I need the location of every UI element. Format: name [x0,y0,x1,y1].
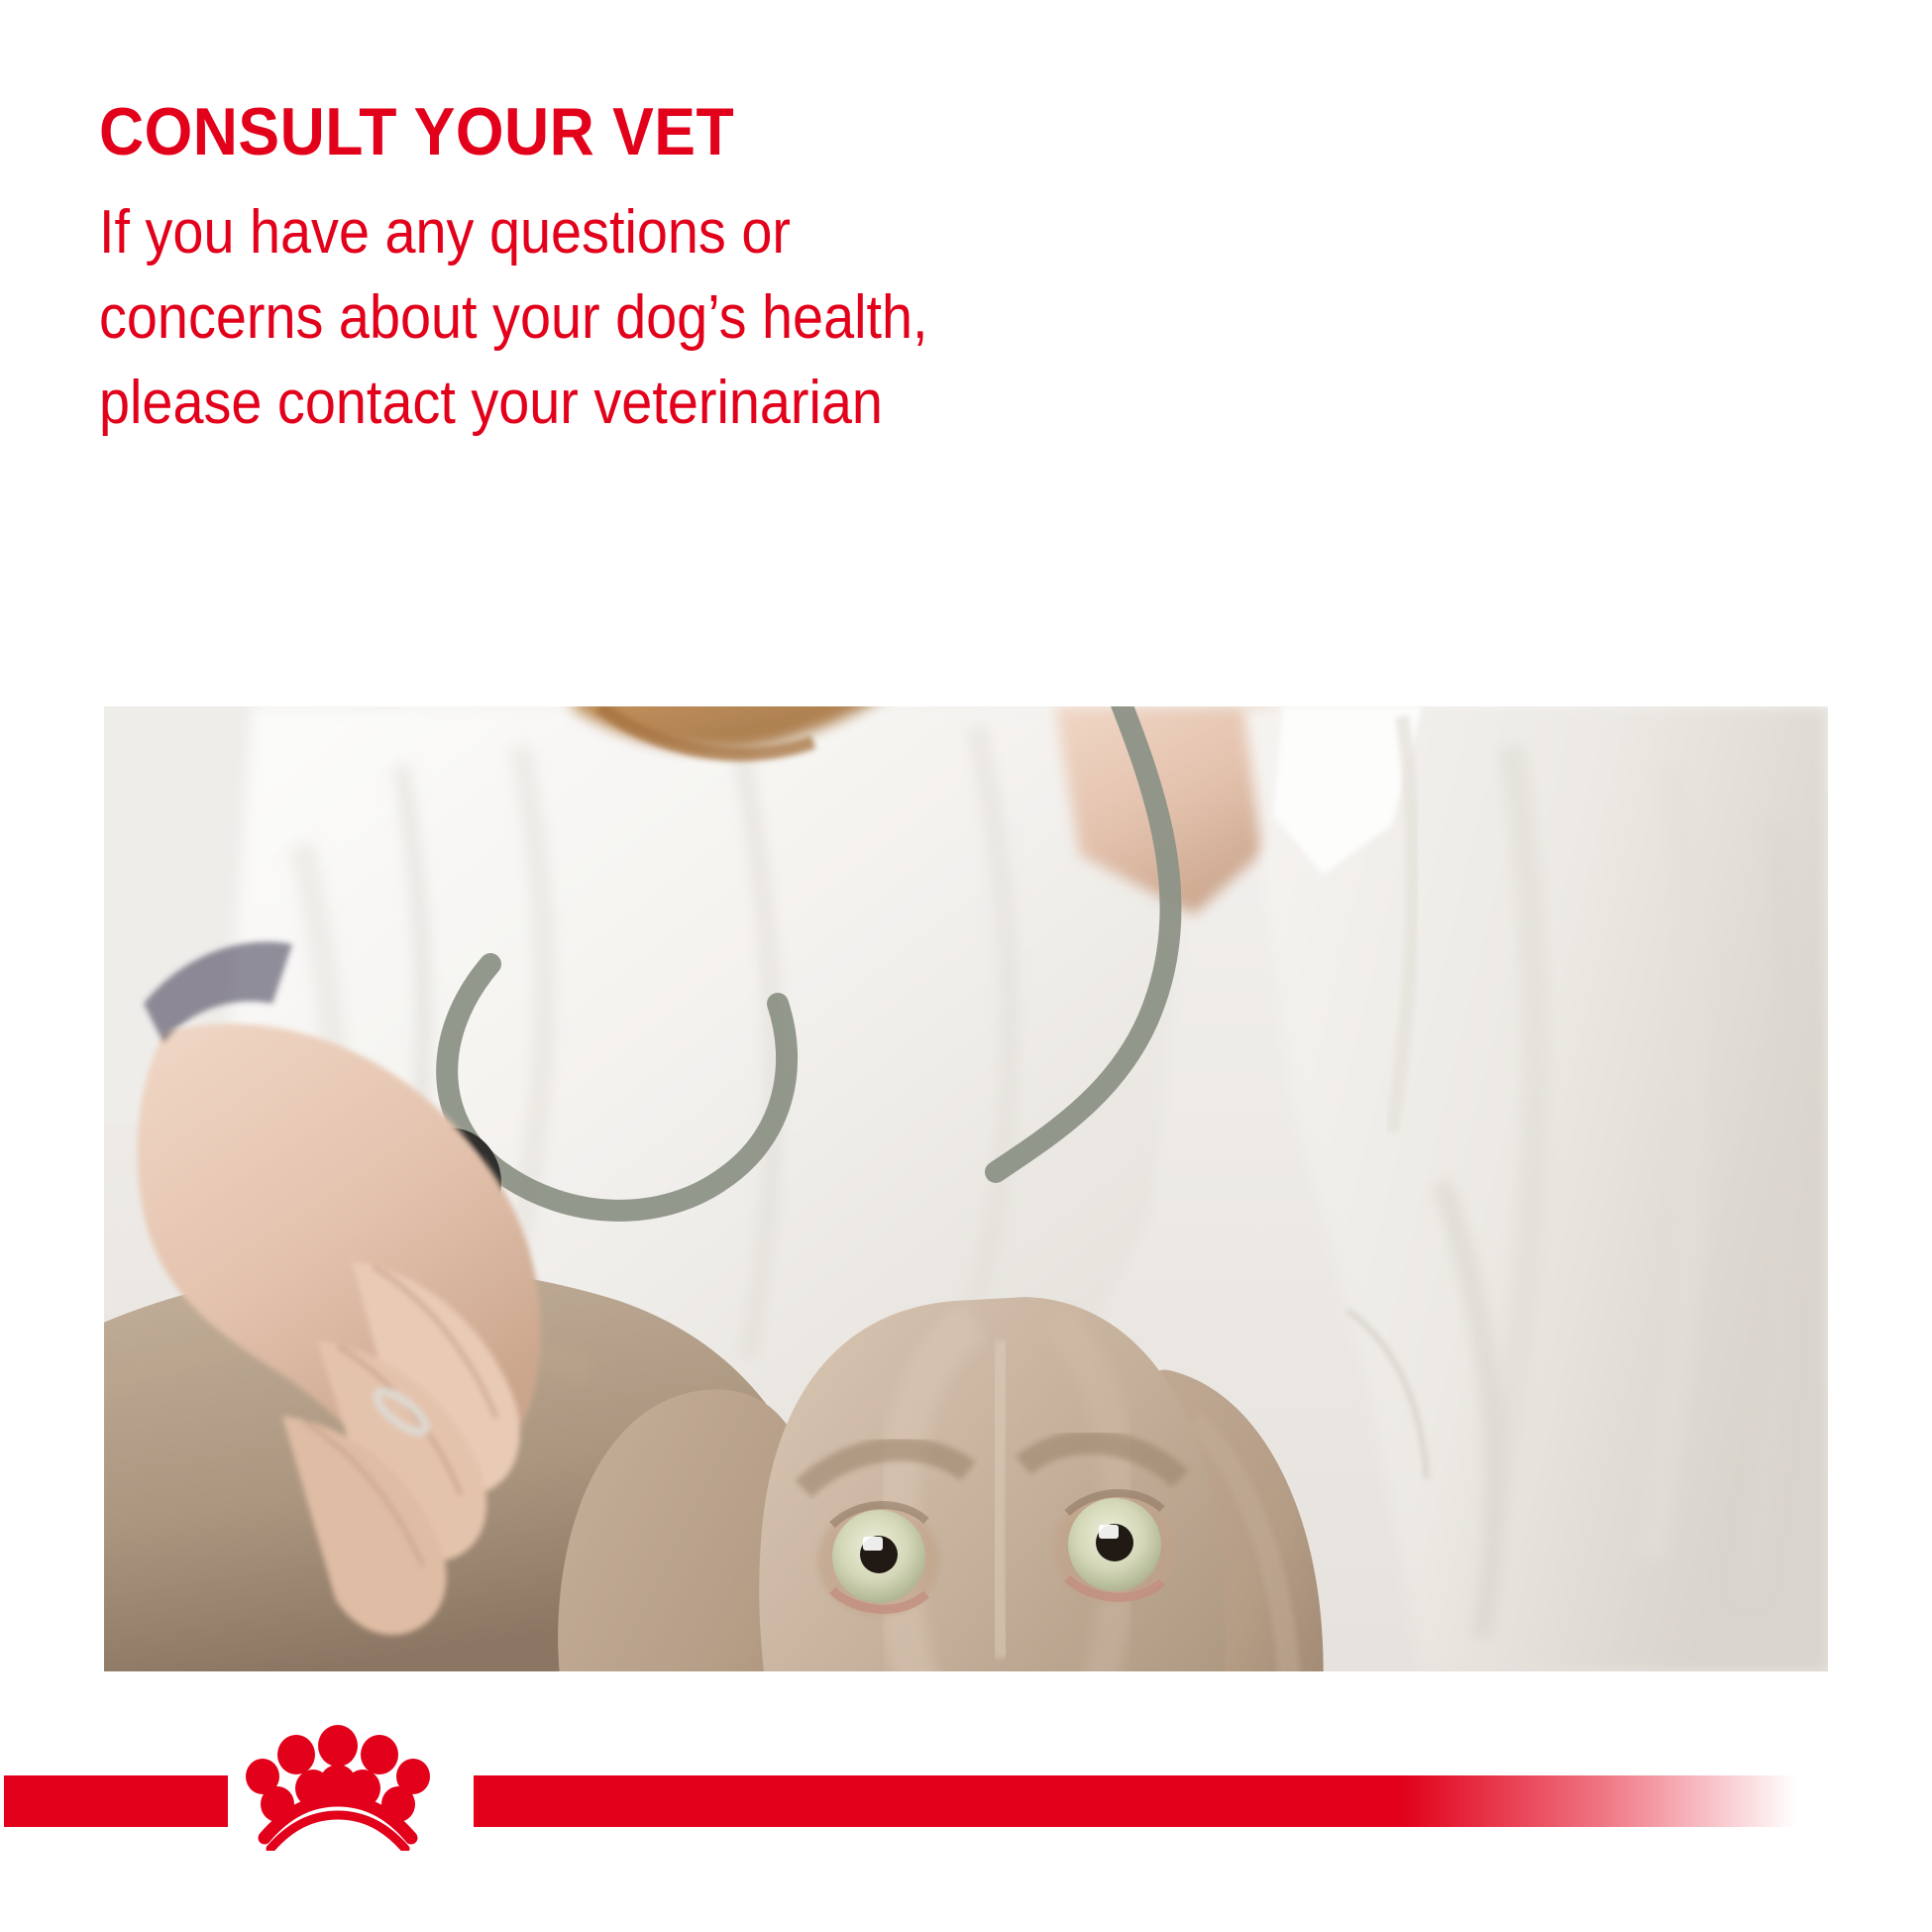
page-title: CONSULT YOUR VET [99,95,1284,168]
headline-block: CONSULT YOUR VET If you have any questio… [99,95,1387,446]
body-copy: If you have any questions or concerns ab… [99,190,1258,446]
body-copy-line-2: concerns about your dog’s health, [99,275,1258,361]
vet-and-dog-photo [104,706,1828,1671]
red-rule-left [4,1775,228,1827]
body-copy-line-3: please contact your veterinarian [99,361,1258,446]
crown-icon [241,1717,435,1851]
royal-canin-crown-logo [241,1717,435,1851]
red-rule-right [474,1775,1797,1827]
body-copy-line-1: If you have any questions or [99,190,1258,275]
vet-and-dog-illustration [104,706,1828,1671]
page-root: CONSULT YOUR VET If you have any questio… [0,0,1932,1932]
